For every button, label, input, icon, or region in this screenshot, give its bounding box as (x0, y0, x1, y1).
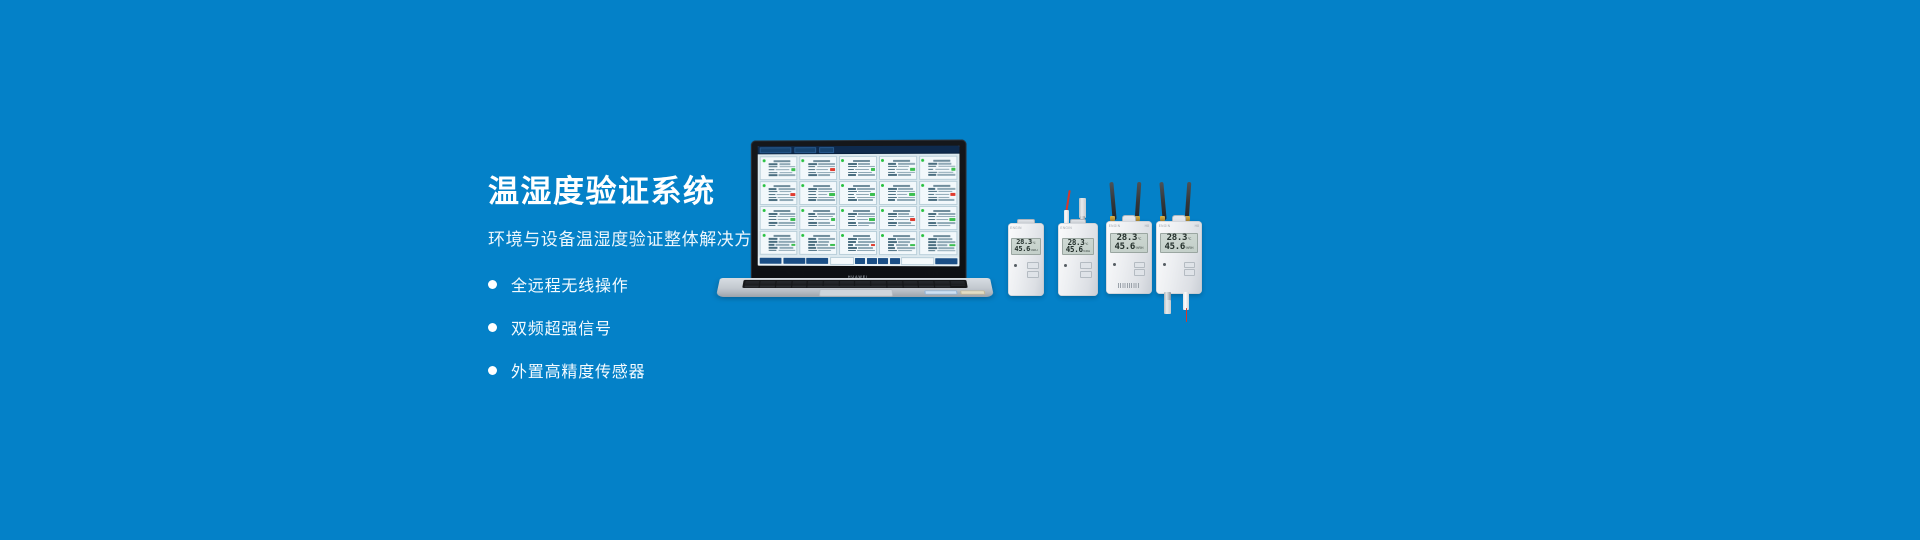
antenna-right (1135, 182, 1142, 220)
monitor-cell[interactable] (839, 156, 877, 180)
keyboard-key[interactable] (903, 286, 918, 287)
keyboard-key[interactable] (935, 286, 950, 287)
monitor-cell-label (888, 169, 895, 171)
monitor-cell-row (769, 243, 796, 246)
monitor-cell-label (808, 244, 815, 246)
monitor-cell-label (808, 238, 816, 240)
monitor-cell-value (855, 169, 869, 171)
alarm-badge (830, 168, 835, 171)
page-button-first[interactable] (855, 258, 865, 264)
monitor-cell-row (769, 224, 796, 226)
monitor-cell-value (938, 225, 950, 227)
monitor-cell-row (769, 168, 796, 171)
monitor-cell-title (853, 159, 870, 161)
toolbar-spacer (830, 257, 854, 265)
monitor-cell-label (888, 194, 896, 196)
monitor-cell-value (779, 213, 795, 215)
monitor-cell-value (816, 219, 829, 221)
monitor-cell-label (808, 172, 816, 174)
monitor-cell[interactable] (839, 231, 877, 255)
keyboard-key[interactable] (887, 286, 902, 287)
monitor-cell-value (898, 241, 910, 243)
monitor-cell-row (928, 216, 956, 218)
monitor-cell-row (848, 213, 875, 215)
monitor-cell-label (928, 191, 937, 193)
monitor-cell-title (853, 235, 870, 237)
monitor-cell-label (928, 174, 936, 176)
promo-banner: 温湿度验证系统 环境与设备温湿度验证整体解决方案 全远程无线操作 双频超强信号 … (0, 0, 1920, 540)
menu-item-settings[interactable] (819, 147, 834, 153)
monitor-cell-value (937, 188, 956, 190)
monitor-cell-value (857, 250, 875, 252)
monitor-cell-row (808, 191, 835, 193)
monitor-cell[interactable] (879, 206, 918, 230)
monitor-cell-value (857, 219, 868, 221)
monitor-cell-row (808, 238, 835, 240)
alarm-badge (950, 193, 955, 196)
monitor-cell-label (888, 225, 897, 227)
ok-badge (870, 193, 875, 196)
monitor-cell-label (928, 219, 935, 221)
monitor-cell-label (848, 194, 854, 196)
monitor-cell-value (935, 168, 950, 170)
device-brand: ENGIN (1010, 226, 1022, 230)
monitor-cell-value (897, 172, 915, 174)
monitor-cell-label (928, 244, 936, 246)
lcd-humidity-unit: %RH (1186, 247, 1194, 250)
device-body: ENGIN H8 28.3 ℃ 45.6 %RH (1106, 221, 1152, 294)
device-brand: ENGIN (1159, 224, 1171, 228)
monitor-cell-label (888, 247, 896, 249)
device-probe-logger: ENGIN 28.3 ℃ 45.6 %RH (1058, 190, 1098, 296)
monitor-cell-label (769, 238, 778, 240)
monitor-cell-row (769, 197, 796, 199)
monitor-cell-row (888, 244, 916, 247)
device-brand: ENGIN (1060, 226, 1072, 230)
monitor-cell-label (769, 163, 778, 165)
monitor-cell-label (808, 224, 817, 226)
monitor-cell-value (857, 216, 875, 218)
online-status-icon (881, 184, 884, 187)
monitor-cell-row (769, 238, 796, 240)
monitor-cell-label (888, 241, 897, 243)
device-wireless-logger: ENGIN H8 28.3 ℃ 45.6 %RH (1106, 182, 1152, 294)
monitor-cell-value (779, 199, 793, 201)
monitor-cell-row (888, 168, 916, 171)
online-status-icon (841, 159, 844, 162)
monitor-cell-value (819, 174, 831, 176)
monitor-cell-value (938, 239, 952, 241)
monitor-cell-value (938, 197, 949, 199)
monitor-cell-value (896, 169, 908, 171)
monitor-cell-value (779, 166, 795, 168)
monitor-cell-label (848, 219, 855, 221)
monitor-cell-row (848, 250, 875, 252)
toolbar-button-exit[interactable] (935, 258, 957, 264)
monitor-cell-row (888, 188, 916, 190)
monitor-cell-label (928, 250, 936, 252)
monitor-cell-title (933, 210, 950, 212)
online-status-icon (841, 234, 844, 237)
monitor-cell-row (928, 191, 956, 193)
monitor-cell-row (769, 218, 796, 221)
monitor-cell-row (848, 247, 875, 249)
monitor-cell-label (928, 194, 934, 196)
monitor-cell[interactable] (799, 206, 837, 230)
status-led (1064, 264, 1067, 267)
monitor-cell-label (808, 199, 816, 201)
monitor-cell-label (848, 197, 855, 199)
monitor-cell-label (848, 174, 856, 176)
monitor-cell-value (817, 199, 835, 201)
monitor-cell-label (888, 197, 897, 199)
monitor-cell-value (777, 224, 795, 226)
device-button-down[interactable] (1184, 269, 1195, 276)
monitor-cell-title (893, 185, 910, 187)
monitor-cell-label (769, 188, 777, 190)
online-status-icon (762, 159, 765, 162)
device-handheld-logger: ENGIN 28.3 ℃ 45.6 %RH (1008, 216, 1044, 296)
monitor-cell-label (848, 238, 857, 240)
monitor-cell-label (928, 197, 937, 199)
bullet-icon (488, 280, 497, 289)
status-led (1014, 264, 1017, 267)
device-brandline: ENGIN H8 (1109, 225, 1150, 229)
monitor-cell-value (897, 191, 915, 193)
monitor-cell-row (848, 225, 875, 227)
monitor-cell-row (808, 193, 835, 196)
monitor-cell-label (769, 174, 778, 176)
monitor-cell-label (928, 225, 937, 227)
monitor-cell-value (818, 172, 836, 174)
online-status-icon (921, 159, 924, 162)
monitor-cell-row (808, 243, 835, 246)
ok-badge (831, 218, 836, 220)
monitor-cell-value (898, 163, 916, 165)
monitor-cell-value (779, 247, 793, 249)
monitor-cell-title (773, 210, 790, 212)
monitor-cell-value (938, 199, 954, 201)
device-button-down[interactable] (1134, 269, 1145, 276)
menu-item-history[interactable] (794, 147, 816, 153)
monitor-cell-value (896, 244, 909, 246)
device-body: ENGIN 28.3 ℃ 45.6 %RH (1058, 223, 1098, 296)
alarm-badge (791, 193, 796, 195)
monitor-cell-row (769, 191, 796, 193)
monitor-cell-row (848, 163, 875, 165)
monitor-cell-value (817, 169, 829, 171)
online-status-icon (841, 209, 844, 212)
monitor-cell-value (778, 197, 796, 199)
device-button-up[interactable] (1027, 262, 1039, 269)
monitor-cell-label (848, 188, 856, 190)
laptop-keyboard[interactable] (743, 280, 968, 288)
monitor-cell-value (938, 165, 955, 167)
monitor-cell-value (776, 169, 790, 171)
monitor-cell-label (928, 199, 937, 201)
monitor-cell[interactable] (760, 156, 798, 180)
monitor-cell-label (848, 166, 857, 168)
monitor-cell-value (938, 247, 954, 249)
monitor-cell-value (858, 241, 875, 243)
monitor-cell[interactable] (879, 231, 918, 255)
list-item: 双频超强信号 (488, 315, 908, 339)
menu-item-realtime[interactable] (760, 147, 792, 153)
device-wireless-probe-logger: ENGIN H8 28.3 ℃ 45.6 %RH (1156, 182, 1202, 320)
monitor-cell[interactable] (760, 181, 798, 205)
monitor-cell-value (898, 222, 911, 224)
monitor-cell-row (888, 238, 916, 240)
sensor-vent (1118, 283, 1140, 288)
lcd-humidity-row: 45.6 %RH (1014, 246, 1038, 253)
monitor-cell-row (848, 168, 875, 171)
ok-badge (790, 218, 796, 220)
ok-badge (949, 244, 955, 247)
monitor-cell-value (858, 222, 876, 224)
monitor-cell-label (848, 172, 857, 174)
monitor-cell-label (808, 247, 816, 249)
monitor-cell[interactable] (799, 231, 837, 255)
monitor-cell-value (937, 222, 955, 224)
monitor-cell[interactable] (799, 181, 837, 205)
monitor-cell-title (933, 159, 950, 161)
monitor-cell-label (848, 191, 857, 193)
monitor-cell-label (928, 247, 937, 249)
monitor-cell-value (897, 199, 915, 201)
monitor-cell-value (936, 219, 948, 221)
monitor-cell-label (888, 216, 897, 218)
monitor-cell-value (858, 172, 872, 174)
monitor-cell-row (928, 244, 956, 247)
toolbar-button-settings[interactable] (760, 258, 782, 264)
monitor-cell-label (808, 174, 817, 176)
monitor-cell-row (848, 188, 875, 190)
monitor-cell-row (808, 218, 835, 221)
monitor-cell-value (779, 241, 796, 243)
monitor-cell-row (808, 163, 835, 165)
monitor-cell-value (817, 166, 836, 168)
monitor-cell-value (819, 216, 834, 218)
monitor-cell-row (928, 163, 956, 165)
monitor-cell-row (888, 197, 916, 199)
device-model: H8 (1195, 224, 1200, 228)
bullet-icon (488, 323, 497, 332)
monitor-cell-value (858, 238, 871, 240)
laptop-trackpad[interactable] (819, 289, 893, 296)
sensor-wire (1186, 308, 1188, 322)
keyboard-key[interactable] (808, 286, 886, 287)
monitor-cell-row (848, 216, 875, 218)
device-brandline: ENGIN H8 (1159, 225, 1200, 229)
monitor-cell-label (769, 169, 775, 171)
monitor-cell[interactable] (839, 206, 877, 230)
toolbar-gap (901, 257, 934, 265)
monitor-cell-row (888, 247, 916, 249)
monitor-cell-row (808, 213, 835, 215)
keyboard-key[interactable] (919, 286, 934, 287)
monitor-cell-row (808, 172, 835, 174)
monitor-cell-value (938, 241, 956, 243)
monitor-cell-value (898, 216, 914, 218)
monitor-cell-value (817, 247, 835, 249)
monitor-cell-value (819, 241, 830, 243)
ok-badge (791, 168, 796, 171)
alarm-badge (871, 244, 875, 247)
monitor-cell-label (888, 172, 896, 174)
monitor-cell-value (897, 194, 907, 196)
keyboard-key[interactable] (744, 286, 759, 287)
monitor-cell[interactable] (879, 181, 918, 205)
monitor-cell-label (848, 241, 857, 243)
monitor-cell-row (928, 165, 956, 167)
monitor-cell-row (848, 191, 875, 193)
monitor-cell-row (769, 193, 796, 196)
monitor-cell-row (888, 163, 916, 165)
toolbar-button-export[interactable] (806, 258, 828, 264)
antenna-left (1159, 182, 1166, 220)
monitor-cell-label (848, 199, 857, 201)
monitor-cell-label (769, 216, 777, 218)
monitor-cell-label (808, 188, 817, 190)
monitor-cell-value (895, 219, 909, 221)
page-button-last[interactable] (890, 258, 900, 264)
monitor-cell-value (858, 174, 876, 176)
monitor-cell-row (928, 218, 956, 221)
monitor-cell-row (769, 163, 796, 165)
monitor-cell-label (888, 163, 896, 165)
monitor-cell-title (773, 160, 790, 162)
monitor-cell-value (898, 174, 911, 176)
monitor-cell-value (897, 238, 915, 240)
lcd-humidity-row: 45.6 %RH (1113, 243, 1145, 252)
device-button-up[interactable] (1184, 262, 1195, 269)
online-status-icon (841, 184, 844, 187)
lcd-temperature-unit: ℃ (1032, 242, 1035, 245)
monitor-cell[interactable] (919, 206, 958, 230)
monitor-cell-value (856, 194, 869, 196)
monitor-cell-label (808, 197, 817, 199)
monitor-cell-row (808, 241, 835, 243)
monitor-cell-label (769, 222, 778, 224)
toolbar-button-print[interactable] (783, 258, 805, 264)
monitor-cell-label (928, 238, 937, 240)
monitor-cell-label (769, 241, 778, 243)
probe-filter-cap (1079, 198, 1086, 218)
monitor-cell-value (938, 171, 953, 173)
monitor-cell-row (888, 250, 916, 252)
monitor-cell-row (769, 216, 796, 218)
monitor-cell-label (928, 165, 937, 167)
monitor-cell-row (848, 244, 875, 247)
monitor-cell[interactable] (799, 156, 837, 180)
monitor-cell[interactable] (839, 181, 877, 205)
monitor-cell-title (813, 235, 830, 237)
monitor-cell-row (928, 168, 956, 171)
monitor-cell-row (888, 199, 916, 201)
device-button-up[interactable] (1080, 262, 1092, 269)
lcd-humidity-unit: %RH (1136, 247, 1144, 250)
monitor-cell-row (888, 193, 916, 196)
monitor-cell-value (858, 191, 871, 193)
monitor-cell-value (898, 250, 912, 252)
online-status-icon (762, 234, 765, 237)
device-lcd: 28.3 ℃ 45.6 %RH (1062, 238, 1095, 256)
online-status-icon (762, 184, 765, 187)
monitor-cell-row (769, 247, 796, 249)
monitor-cell-label (888, 219, 894, 221)
monitor-cell-row (928, 250, 956, 252)
page-button-prev[interactable] (866, 258, 876, 264)
page-button-next[interactable] (878, 258, 888, 264)
laptop-base (716, 278, 994, 297)
monitor-cell-value (858, 199, 873, 201)
monitor-cell-row (928, 247, 956, 249)
monitor-cell-value (898, 188, 913, 190)
monitor-cell-value (857, 197, 876, 199)
monitor-cell-value (778, 249, 795, 251)
monitor-cell-label (848, 247, 857, 249)
monitor-cell-row (888, 218, 916, 221)
ok-badge (910, 168, 915, 171)
monitor-cell-label (808, 216, 817, 218)
device-button-down[interactable] (1080, 271, 1092, 278)
antenna-left (1109, 182, 1116, 220)
monitor-cell[interactable] (919, 231, 958, 255)
monitor-cell-value (779, 222, 796, 224)
status-led (1113, 263, 1116, 266)
lcd-humidity-unit: %RH (1083, 250, 1090, 253)
monitor-cell-label (888, 213, 897, 215)
monitor-cell[interactable] (760, 231, 798, 255)
monitor-cell-row (888, 216, 916, 218)
device-button-down[interactable] (1027, 271, 1039, 278)
monitor-cell-row (928, 197, 956, 199)
monitor-cell-label (808, 250, 817, 252)
monitor-cell-row (888, 172, 916, 174)
monitor-cell-label (848, 250, 856, 252)
monitor-cell-label (769, 197, 776, 199)
monitor-cell-label (808, 241, 817, 243)
list-item: 外置高精度传感器 (488, 358, 908, 382)
monitor-cell-row (769, 174, 796, 176)
monitor-cell-row (808, 224, 835, 226)
bullet-icon (488, 366, 497, 375)
monitor-cell-value (858, 213, 875, 215)
monitor-cell[interactable] (919, 156, 958, 180)
monitor-cell[interactable] (760, 206, 798, 230)
ok-badge (950, 218, 956, 221)
monitor-cell-value (778, 188, 796, 190)
monitor-cell[interactable] (919, 181, 958, 205)
monitor-cell-value (777, 194, 789, 196)
monitor-cell[interactable] (879, 156, 918, 180)
monitor-cell-value (818, 194, 828, 196)
keyboard-key[interactable] (760, 286, 775, 287)
keyboard-key[interactable] (776, 286, 791, 287)
monitor-cell-label (888, 191, 896, 193)
monitor-cell-label (928, 172, 937, 174)
device-button-up[interactable] (1134, 262, 1145, 269)
monitor-cell-row (928, 241, 956, 243)
monitor-cell-title (893, 235, 910, 237)
monitor-cell-row (888, 213, 916, 215)
monitor-cell-title (853, 185, 870, 187)
keyboard-key[interactable] (792, 286, 807, 287)
monitor-cell-value (938, 213, 955, 215)
monitor-cell-value (936, 194, 949, 196)
monitor-cell-row (888, 241, 916, 243)
monitor-cell-value (778, 219, 789, 221)
